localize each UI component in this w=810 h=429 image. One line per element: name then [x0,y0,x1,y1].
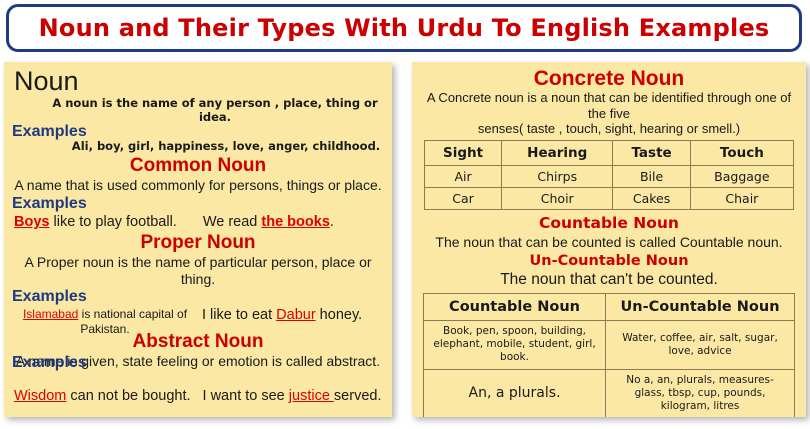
highlight-wisdom: Wisdom [14,388,66,404]
senses-cell: Air [425,165,502,187]
highlight-justice: justice [289,388,334,404]
right-panel: Concrete Noun A Concrete noun is a noun … [412,62,806,417]
title-banner: Noun and Their Types With Urdu To Englis… [6,4,802,52]
left-panel: Noun A noun is the name of any person , … [4,62,392,417]
abstract-noun-example-1-text: can not be bought. [66,388,190,404]
common-noun-definition: A name that is used commonly for persons… [10,177,386,194]
senses-cell: Baggage [690,165,793,187]
page-title: Noun and Their Types With Urdu To Englis… [39,14,770,42]
senses-header-cell: Taste [613,140,690,165]
examples-label-common: Examples [12,196,386,213]
proper-noun-example-2: I like to eat Dabur honey. [202,307,362,324]
countable-header-cell: Countable Noun [424,294,606,321]
senses-cell: Chair [690,187,793,209]
table-row: Book, pen, spoon, building, elephant, mo… [424,321,795,369]
senses-cell: Cakes [613,187,690,209]
senses-header-cell: Hearing [502,140,613,165]
common-noun-example-1-text: like to play football. [49,214,176,230]
highlight-islamabad: Islamabad [23,307,78,321]
abstract-noun-example-2-pre: I want to see [203,388,289,404]
highlight-boys: Boys [14,214,49,230]
common-noun-examples: Boys like to play football. We read the … [10,214,386,231]
table-row: Car Choir Cakes Chair [425,187,794,209]
senses-table: Sight Hearing Taste Touch Air Chirps Bil… [424,140,794,210]
concrete-noun-definition-line-1: A Concrete noun is a noun that can be id… [418,90,800,121]
abstract-noun-example-2: I want to see justice served. [203,388,382,405]
proper-noun-example-2-pre: I like to eat [202,307,276,323]
concrete-noun-definition-line-2: senses( taste , touch, sight, hearing or… [418,121,800,137]
countable-table-header-row: Countable Noun Un-Countable Noun [424,294,795,321]
common-noun-example-2-post: . [330,214,334,230]
common-noun-example-1: Boys like to play football. [10,214,177,231]
uncountable-cell: No a, an, plurals, measures-glass, tbsp,… [606,369,795,417]
countable-noun-heading: Countable Noun [418,215,800,233]
proper-noun-definition: A Proper noun is the name of particular … [10,254,386,287]
countable-cell: Book, pen, spoon, building, elephant, mo… [424,321,606,369]
uncountable-noun-definition: The noun that can't be counted. [418,271,800,289]
abstract-noun-example-2-post: served. [334,388,382,404]
senses-header-cell: Touch [690,140,793,165]
common-noun-example-2-pre: We read [203,214,262,230]
uncountable-cell: Water, coffee, air, salt, sugar, love, a… [606,321,795,369]
abstract-noun-example-1: Wisdom can not be bought. [10,388,191,405]
countable-cell: An, a plurals. [424,369,606,417]
noun-examples: Ali, boy, girl, happiness, love, anger, … [66,139,386,153]
countable-header-cell: Un-Countable Noun [606,294,795,321]
common-noun-example-2: We read the books. [203,214,334,231]
proper-noun-heading: Proper Noun [10,233,386,254]
countable-table: Countable Noun Un-Countable Noun Book, p… [423,293,795,417]
senses-cell: Bile [613,165,690,187]
senses-header-cell: Sight [425,140,502,165]
examples-label-proper: Examples [12,289,386,306]
highlight-dabur: Dabur [276,307,316,323]
uncountable-noun-heading: Un-Countable Noun [418,253,800,270]
countable-noun-definition: The noun that can be counted is called C… [418,234,800,251]
table-row: An, a plurals. No a, an, plurals, measur… [424,369,795,417]
noun-definition: A noun is the name of any person , place… [44,96,386,124]
highlight-the-books: the books [261,214,329,230]
senses-table-header-row: Sight Hearing Taste Touch [425,140,794,165]
senses-cell: Chirps [502,165,613,187]
concrete-noun-heading: Concrete Noun [418,67,800,90]
senses-cell: Choir [502,187,613,209]
senses-cell: Car [425,187,502,209]
proper-noun-example-2-post: honey. [316,307,363,323]
noun-heading: Noun [14,68,386,95]
abstract-noun-examples: Wisdom can not be bought. I want to see … [10,388,386,405]
common-noun-heading: Common Noun [10,156,386,177]
table-row: Air Chirps Bile Baggage [425,165,794,187]
